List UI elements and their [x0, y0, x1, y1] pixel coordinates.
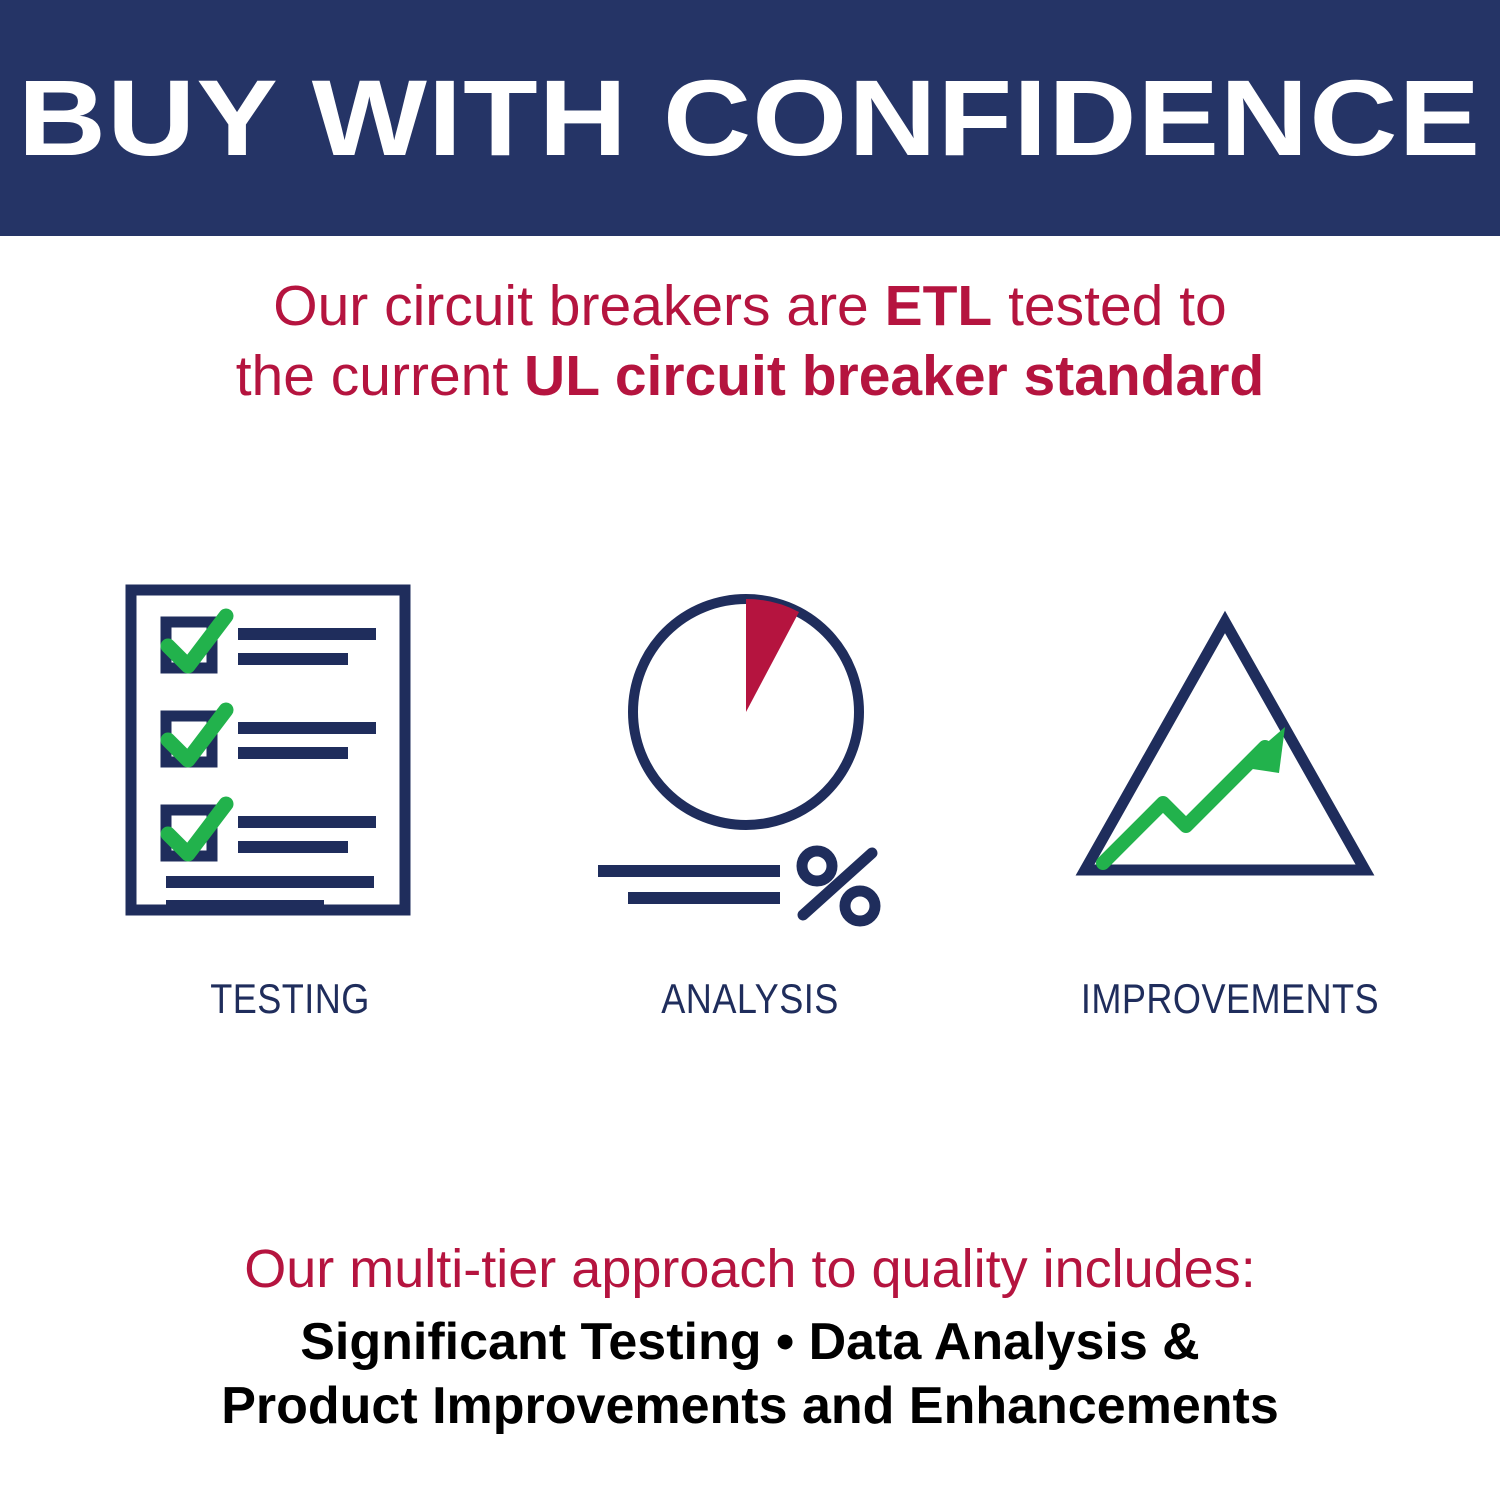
- pie-slice-highlight: [746, 599, 799, 712]
- icon-label-testing: TESTING: [92, 975, 488, 1023]
- checklist-icon: [60, 560, 520, 940]
- subtitle-etl-emphasis: ETL: [885, 274, 993, 338]
- footer-detail-line-1: Significant Testing • Data Analysis &: [0, 1310, 1500, 1374]
- icon-slot-improvements: [1000, 560, 1460, 940]
- subtitle-line-1: Our circuit breakers are ETL tested to: [0, 272, 1500, 342]
- icon-slot-testing: [60, 560, 520, 940]
- footer-lead-text: Our multi-tier approach to quality inclu…: [0, 1238, 1500, 1302]
- subtitle-text: Our circuit breakers are ETL tested to t…: [0, 272, 1500, 411]
- subtitle-line1-post: tested to: [992, 274, 1227, 338]
- footer-detail-line-2: Product Improvements and Enhancements: [0, 1374, 1500, 1438]
- icon-slot-analysis: [560, 560, 940, 940]
- page-title: BUY WITH CONFIDENCE: [18, 64, 1481, 172]
- header-banner: BUY WITH CONFIDENCE: [0, 0, 1500, 236]
- footer-detail-text: Significant Testing • Data Analysis & Pr…: [0, 1310, 1500, 1439]
- pie-legend-line-1: [598, 865, 780, 877]
- footer-block: Our multi-tier approach to quality inclu…: [0, 1238, 1500, 1439]
- pie-chart-icon: [560, 560, 940, 940]
- pie-legend-line-2: [628, 892, 780, 904]
- icon-label-analysis: ANALYSIS: [587, 975, 914, 1023]
- subtitle-line1-pre: Our circuit breakers are: [273, 274, 884, 338]
- growth-triangle-icon: [1000, 560, 1460, 940]
- subtitle-line2-pre: the current: [236, 344, 524, 408]
- subtitle-line-2: the current UL circuit breaker standard: [0, 342, 1500, 412]
- percent-icon: [802, 851, 875, 921]
- icon-label-improvements: IMPROVEMENTS: [1032, 975, 1428, 1023]
- icons-row: [0, 560, 1500, 940]
- subtitle-ul-standard-emphasis: UL circuit breaker standard: [524, 344, 1264, 408]
- icon-labels-row: TESTING ANALYSIS IMPROVEMENTS: [0, 975, 1500, 1035]
